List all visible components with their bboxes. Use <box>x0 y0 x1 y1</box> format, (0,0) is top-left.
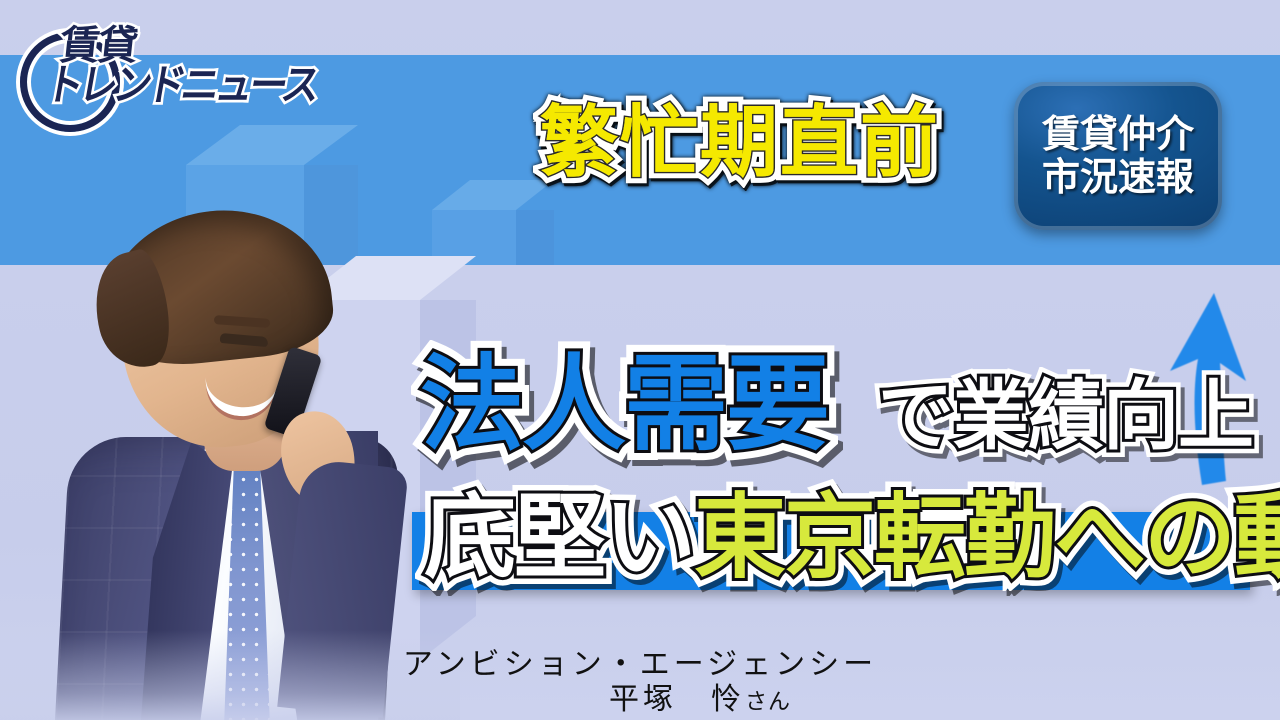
caption-honorific: さん <box>745 690 791 715</box>
logo-line-2: トレンドニュース <box>42 64 320 107</box>
caption-company: アンビション・エージェンシー <box>0 648 1280 683</box>
badge-line-2: 市況速報 <box>1042 157 1194 198</box>
interviewee-photo <box>0 205 460 720</box>
title-line-1-fill: 法人需要 <box>420 352 828 456</box>
badge-line-1: 賃貸仲介 <box>1042 114 1194 155</box>
interviewee-caption: アンビション・エージェンシー 平塚 怜さん <box>0 648 1280 717</box>
caption-person: 平塚 怜さん <box>0 683 1280 718</box>
channel-logo[interactable]: 賃貸 トレンドニュース <box>16 22 276 122</box>
title-line-2-part-a: 底堅い <box>424 484 694 591</box>
status-badge: 賃貸仲介 市況速報 <box>1014 82 1222 230</box>
title-line-2-fill: 底堅い東京転勤への動き <box>424 492 1280 584</box>
title-line-1b-fill: で業績向上 <box>878 378 1253 454</box>
video-thumbnail: 賃貸 トレンドニュース 繁忙期直前 繁忙期直前 繁忙期直前 賃貸仲介 市況速報 … <box>0 0 1280 720</box>
title-line-2-part-b: 東京転勤への動き <box>694 484 1280 591</box>
caption-person-name: 平塚 怜 <box>609 682 745 717</box>
kicker-headline: 繁忙期直前 <box>540 104 940 182</box>
